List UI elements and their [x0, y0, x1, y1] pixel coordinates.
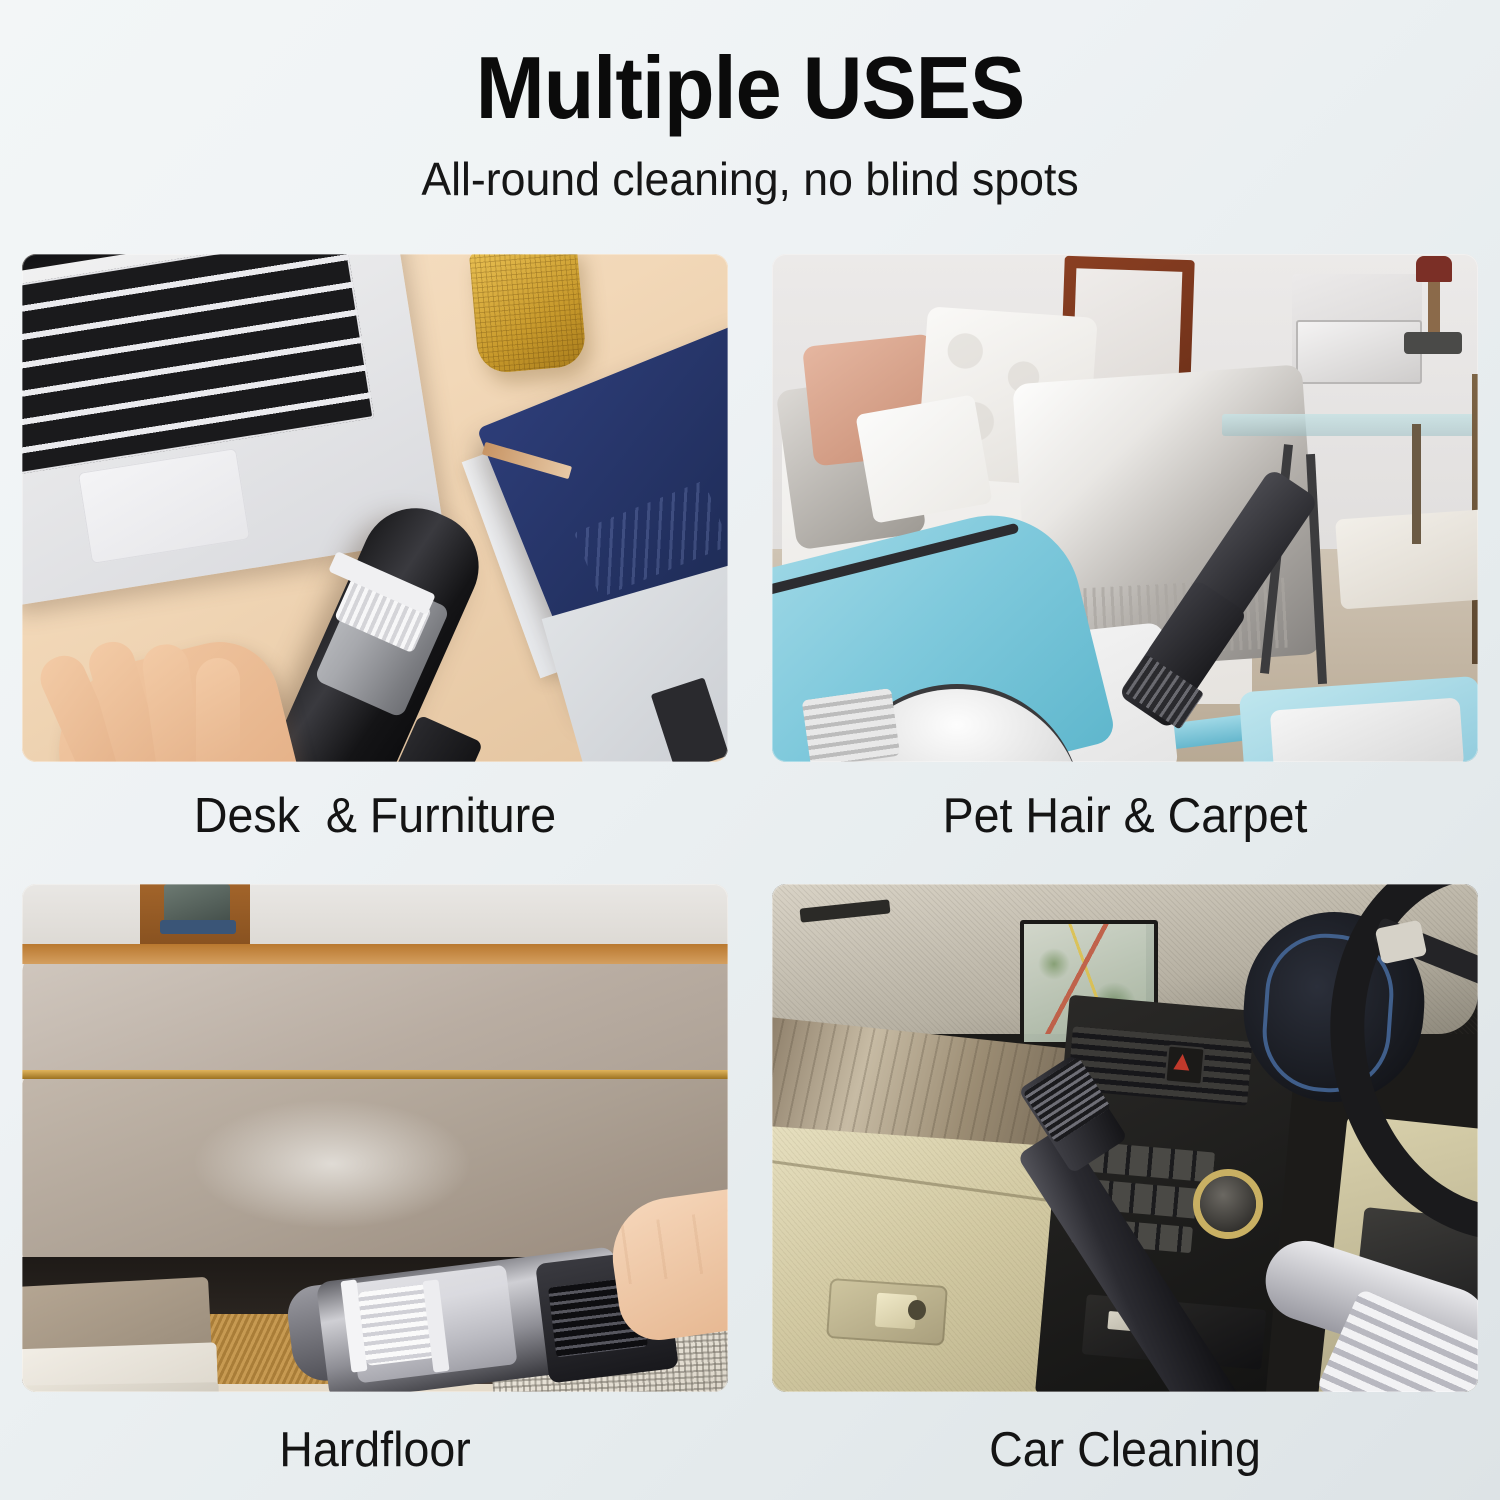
- hand-finger: [196, 658, 240, 762]
- photo-desk-furniture: [22, 254, 728, 762]
- caption-desk-furniture: Desk & Furniture: [40, 762, 711, 884]
- hazard-triangle-icon: [1173, 1053, 1190, 1070]
- header: Multiple USES All-round cleaning, no bli…: [0, 0, 1500, 202]
- caption-car-cleaning: Car Cleaning: [790, 1392, 1461, 1478]
- infographic-page: Multiple USES All-round cleaning, no bli…: [0, 0, 1500, 1500]
- photo-car-cleaning: [772, 884, 1478, 1392]
- page-subtitle: All-round cleaning, no blind spots: [23, 132, 1478, 202]
- chair-seat: [1335, 509, 1478, 610]
- use-case-desk-furniture: Desk & Furniture: [22, 254, 728, 884]
- vacuum-vents: [802, 688, 901, 762]
- storage-box: [1296, 320, 1422, 384]
- glass-table: [1222, 414, 1478, 436]
- gold-trim-line: [22, 1070, 728, 1079]
- jar-base: [160, 920, 236, 934]
- marble-highlight: [192, 1099, 472, 1229]
- use-case-pet-hair-carpet: Pet Hair & Carpet: [772, 254, 1478, 884]
- caption-hardfloor: Hardfloor: [40, 1392, 711, 1478]
- pillow-small: [855, 394, 992, 523]
- use-case-hardfloor: Hardfloor: [22, 884, 728, 1478]
- chair-leg: [1412, 424, 1421, 544]
- use-case-grid: Desk & Furniture: [22, 254, 1478, 1478]
- pencil-cup-mesh: [469, 254, 587, 374]
- lamp-head: [1416, 256, 1452, 282]
- photo-pet-hair-carpet: [772, 254, 1478, 762]
- lamp-base: [1404, 332, 1462, 354]
- caption-pet-hair-carpet: Pet Hair & Carpet: [790, 762, 1461, 884]
- photo-hardfloor: [22, 884, 728, 1392]
- use-case-car-cleaning: Car Cleaning: [772, 884, 1478, 1478]
- page-title: Multiple USES: [45, 0, 1455, 132]
